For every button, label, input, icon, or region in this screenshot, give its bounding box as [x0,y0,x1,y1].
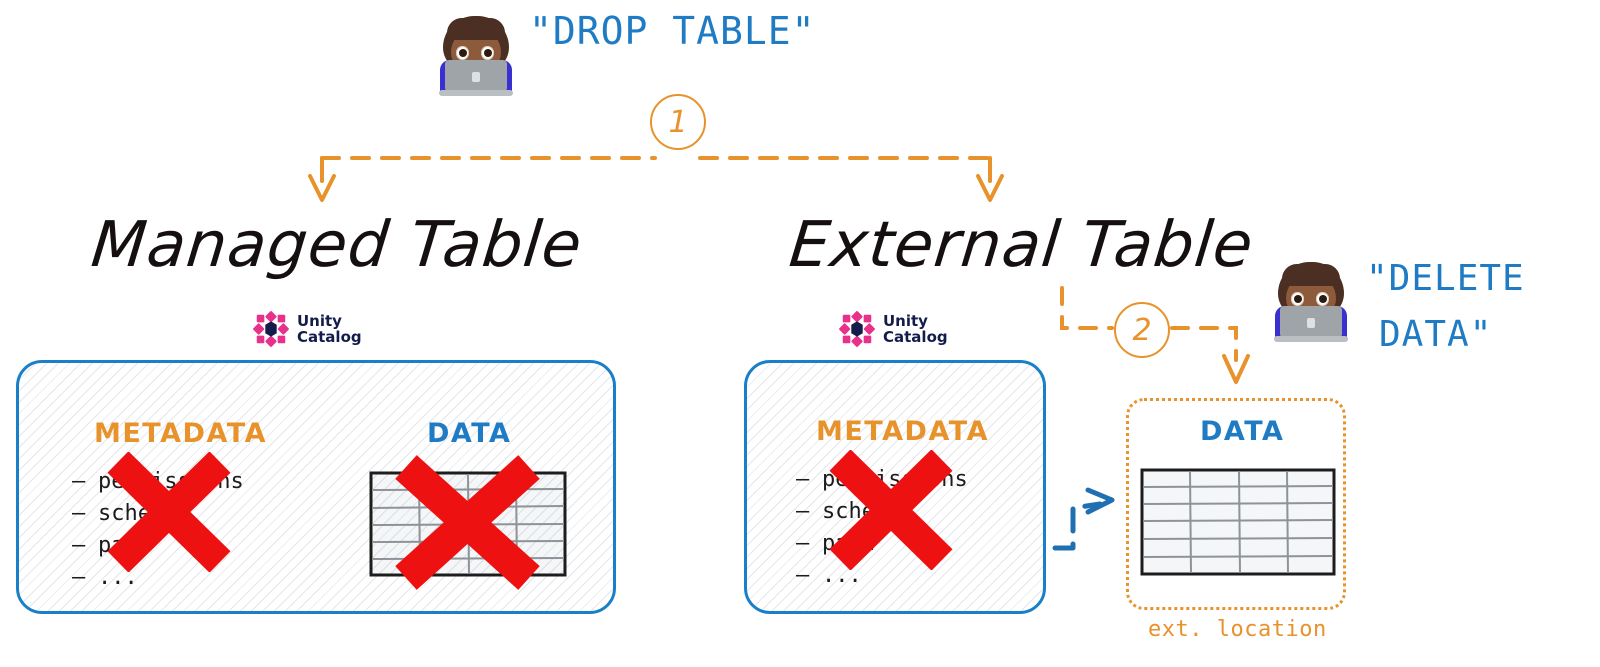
managed-data-label: DATA [427,418,511,449]
bullet-dash: – [72,530,98,562]
unity-catalog-wordmark: Unity Catalog [883,313,948,345]
logo-line-1: Unity [297,313,362,329]
person-fringe [447,18,505,40]
person-eye-right [1316,292,1329,306]
person-eye-right [481,46,494,60]
title-external-table: External Table [786,208,1257,281]
person-eye-left [456,46,469,60]
laptop-base [439,90,513,96]
laptop-icon [445,60,507,92]
red-x-managed-data [390,455,545,595]
ext-location-caption: ext. location [1148,617,1327,642]
ext-location-data-table-graphic [1140,467,1336,582]
logo-line-1: Unity [883,313,948,329]
step-number: 2 [1132,313,1151,348]
step-marker-1: 1 [650,94,706,150]
command-delete-data-line2: DATA" [1379,314,1492,355]
person-laptop-icon-drop [443,16,513,98]
command-drop-table: "DROP TABLE" [529,9,816,53]
unity-catalog-mark-icon [252,310,290,348]
unity-catalog-mark-icon [838,310,876,348]
logo-line-2: Catalog [883,329,948,345]
connector-step2-inbound [1062,288,1112,328]
ext-location-data-label: DATA [1200,416,1284,447]
unity-catalog-logo-external: Unity Catalog [838,310,948,348]
laptop-icon [1280,306,1342,338]
arrowhead-ext-location [1224,356,1248,382]
logo-line-2: Catalog [297,329,362,345]
person-laptop-icon-delete [1278,262,1348,344]
person-fringe [1282,264,1340,286]
step-number: 1 [668,105,687,140]
arrowhead-managed [310,176,334,200]
command-delete-data-line1: "DELETE [1366,258,1525,299]
bullet-dash: – [796,560,822,592]
unity-catalog-wordmark: Unity Catalog [297,313,362,345]
laptop-base [1274,336,1348,342]
bullet-dash: – [72,562,98,594]
bullet-dash: – [796,464,822,496]
person-eye-left [1291,292,1304,306]
red-x-external-metadata [826,450,956,575]
bullet-dash: – [796,496,822,528]
title-managed-table: Managed Table [88,208,586,281]
external-metadata-label: METADATA [816,416,989,447]
arrowhead-external [978,176,1002,200]
connector-step2-outbound [1172,328,1236,360]
connector-path-pointer [1055,504,1100,548]
managed-metadata-label: METADATA [94,418,267,449]
diagram-canvas: "DROP TABLE" "DELETE DATA" 1 2 [0,0,1600,667]
step-marker-2: 2 [1114,302,1170,358]
red-x-managed-metadata [104,452,234,577]
bullet-dash: – [72,498,98,530]
bullet-dash: – [72,466,98,498]
unity-catalog-logo-managed: Unity Catalog [252,310,362,348]
bullet-dash: – [796,528,822,560]
arrowhead-path-pointer [1088,490,1112,512]
